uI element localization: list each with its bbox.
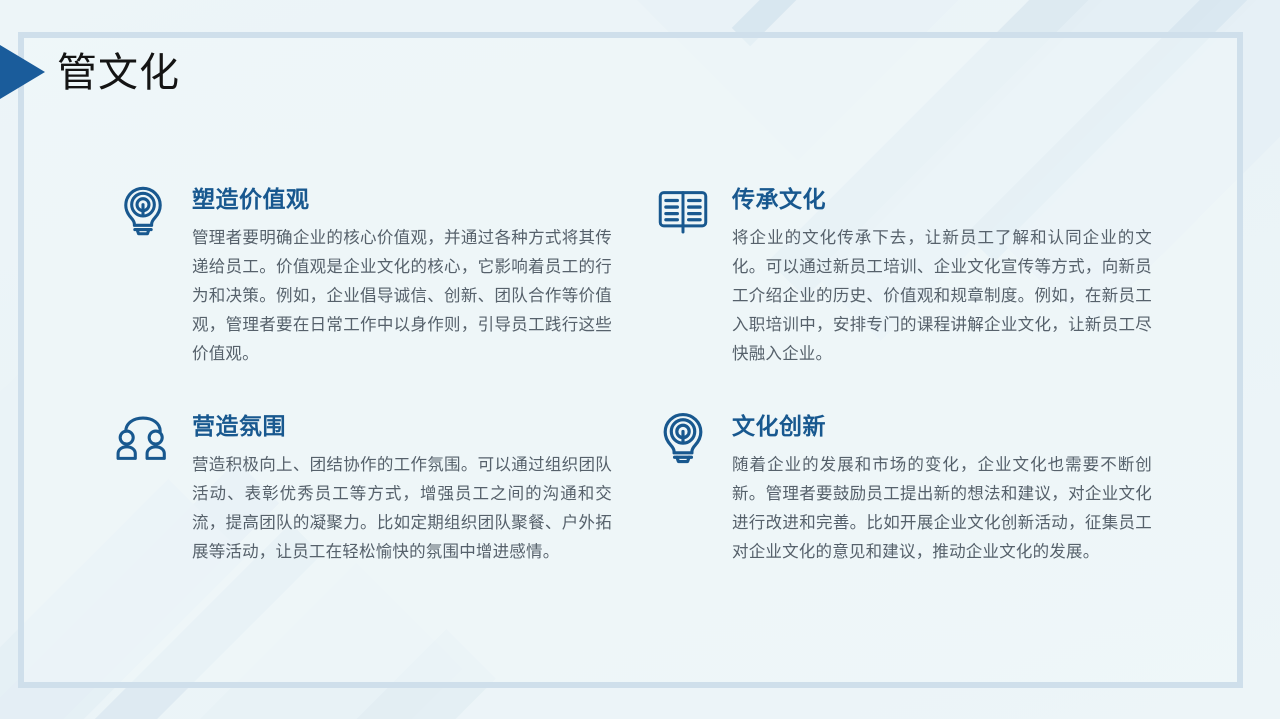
- slide-canvas: 管文化 塑造价值观 管理者要明确企业的核心价值观，并通过各种方式将其传递给员工。…: [0, 0, 1280, 719]
- title-arrow-marker-icon: [0, 45, 45, 99]
- card-text: 随着企业的发展和市场的变化，企业文化也需要不断创新。管理者要鼓励员工提出新的想法…: [732, 451, 1152, 567]
- card-title: 传承文化: [732, 184, 1152, 214]
- card-title: 文化创新: [732, 411, 1152, 441]
- open-book-icon: [652, 180, 714, 242]
- card-title: 营造氛围: [192, 411, 612, 441]
- card-body: 文化创新 随着企业的发展和市场的变化，企业文化也需要不断创新。管理者要鼓励员工提…: [732, 405, 1152, 567]
- card-body: 传承文化 将企业的文化传承下去，让新员工了解和认同企业的文化。可以通过新员工培训…: [732, 178, 1152, 369]
- card-text: 营造积极向上、团结协作的工作氛围。可以通过组织团队活动、表彰优秀员工等方式，增强…: [192, 451, 612, 567]
- card-shape-values: 塑造价值观 管理者要明确企业的核心价值观，并通过各种方式将其传递给员工。价值观是…: [112, 178, 612, 369]
- lightbulb-idea-icon: [112, 180, 174, 242]
- card-body: 营造氛围 营造积极向上、团结协作的工作氛围。可以通过组织团队活动、表彰优秀员工等…: [192, 405, 612, 567]
- cards-grid: 塑造价值观 管理者要明确企业的核心价值观，并通过各种方式将其传递给员工。价值观是…: [112, 178, 1172, 567]
- card-text: 管理者要明确企业的核心价值观，并通过各种方式将其传递给员工。价值观是企业文化的核…: [192, 224, 612, 369]
- card-title: 塑造价值观: [192, 184, 612, 214]
- card-inherit-culture: 传承文化 将企业的文化传承下去，让新员工了解和认同企业的文化。可以通过新员工培训…: [652, 178, 1152, 369]
- team-people-icon: [112, 407, 174, 469]
- card-text: 将企业的文化传承下去，让新员工了解和认同企业的文化。可以通过新员工培训、企业文化…: [732, 224, 1152, 369]
- card-build-atmosphere: 营造氛围 营造积极向上、团结协作的工作氛围。可以通过组织团队活动、表彰优秀员工等…: [112, 405, 612, 567]
- card-body: 塑造价值观 管理者要明确企业的核心价值观，并通过各种方式将其传递给员工。价值观是…: [192, 178, 612, 369]
- card-culture-innovation: 文化创新 随着企业的发展和市场的变化，企业文化也需要不断创新。管理者要鼓励员工提…: [652, 405, 1152, 567]
- lightbulb-idea-icon: [652, 407, 714, 469]
- page-title: 管文化: [57, 46, 180, 100]
